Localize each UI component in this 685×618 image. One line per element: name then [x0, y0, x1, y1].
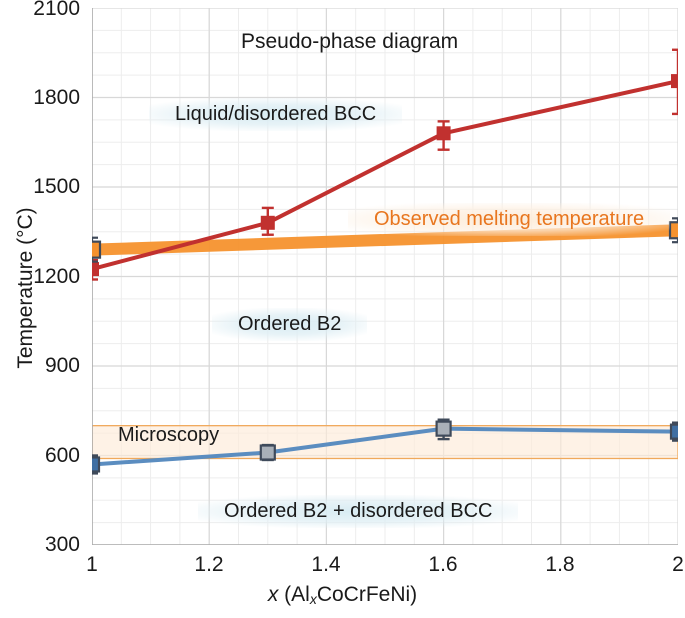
- annotation-title: Pseudo-phase diagram: [233, 27, 466, 57]
- annotation-observed-melting-temperature: Observed melting temperature: [348, 203, 670, 236]
- x-axis-label: x (AlxCoCrFeNi): [0, 583, 685, 607]
- x-axis-label-subscript: x: [310, 591, 317, 607]
- data-point-marker: [92, 457, 99, 471]
- data-point-marker: [671, 425, 678, 439]
- data-point-marker: [672, 75, 679, 88]
- data-point-marker: [437, 422, 451, 436]
- annotation-microscopy: Microscopy: [118, 423, 219, 448]
- pseudo-phase-diagram-figure: Temperature (°C) 2100 1800 1500 1200 900…: [0, 0, 685, 618]
- x-axis-label-rest: CoCrFeNi): [317, 583, 417, 606]
- data-point-marker: [92, 242, 100, 258]
- x-axis-label-open: (Al: [278, 583, 310, 606]
- y-tick-label: 1800: [0, 87, 80, 108]
- x-tick-label: 2: [648, 554, 685, 575]
- x-tick-label: 1.8: [530, 554, 590, 575]
- x-tick-label: 1.6: [413, 554, 473, 575]
- y-tick-label: 2100: [0, 0, 80, 19]
- annotation-ordered-b2-plus-disordered-bcc: Ordered B2 + disordered BCC: [198, 495, 518, 528]
- y-tick-label: 1200: [0, 266, 80, 287]
- plot-svg: [92, 8, 678, 545]
- x-tick-label: 1: [62, 554, 122, 575]
- data-point-marker: [670, 222, 678, 238]
- data-point-marker: [92, 263, 99, 276]
- x-axis-label-variable: x: [268, 583, 279, 606]
- annotation-liquid-disordered-bcc: Liquid/disordered BCC: [149, 98, 402, 131]
- data-point-marker: [261, 216, 274, 229]
- data-point-marker: [261, 446, 275, 460]
- x-tick-label: 1.4: [296, 554, 356, 575]
- y-tick-label: 600: [0, 445, 80, 466]
- annotation-ordered-b2: Ordered B2: [212, 308, 367, 341]
- y-tick-label: 1500: [0, 176, 80, 197]
- y-tick-label: 900: [0, 355, 80, 376]
- plot-area: Pseudo-phase diagram Liquid/disordered B…: [92, 8, 678, 545]
- y-tick-label: 300: [0, 534, 80, 555]
- data-point-marker: [437, 127, 450, 140]
- x-tick-label: 1.2: [179, 554, 239, 575]
